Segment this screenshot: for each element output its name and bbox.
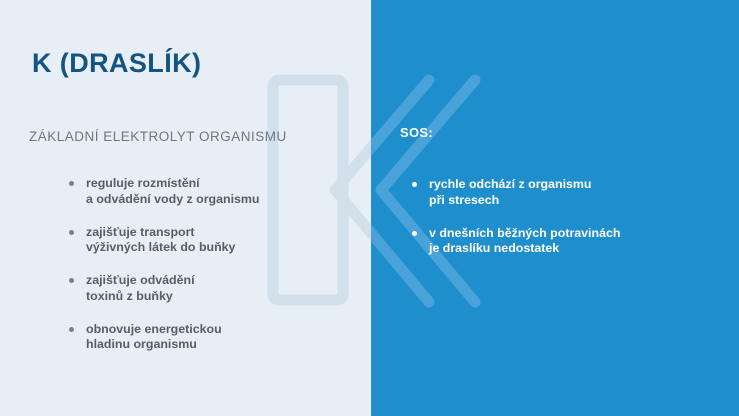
list-item-line-2: hladinu organismu <box>86 337 260 353</box>
list-item-line-1: rychle odchází z organismu <box>429 177 620 193</box>
bullet-dot-icon <box>412 231 417 236</box>
list-item: v dnešních běžných potravinách je draslí… <box>411 226 620 257</box>
list-item: rychle odchází z organismu při stresech <box>411 177 620 208</box>
list-item: zajišťuje transport výživných látek do b… <box>68 225 260 256</box>
list-item-line-2: toxinů z buňky <box>86 289 260 305</box>
page-title: K (DRASLÍK) <box>32 48 201 79</box>
left-bullet-list: reguluje rozmístění a odvádění vody z or… <box>68 176 260 370</box>
list-item-line-1: zajišťuje odvádění <box>86 273 260 289</box>
list-item: zajišťuje odvádění toxinů z buňky <box>68 273 260 304</box>
list-item-line-1: obnovuje energetickou <box>86 322 260 338</box>
list-item-line-1: zajišťuje transport <box>86 225 260 241</box>
bullet-dot-icon <box>412 182 417 187</box>
right-bullet-list: rychle odchází z organismu při stresech … <box>411 177 620 274</box>
list-item-line-2: výživných látek do buňky <box>86 240 260 256</box>
list-item: obnovuje energetickou hladinu organismu <box>68 322 260 353</box>
bullet-dot-icon <box>69 230 74 235</box>
list-item-line-2: při stresech <box>429 193 620 209</box>
list-item-line-1: v dnešních běžných potravinách <box>429 226 620 242</box>
list-item: reguluje rozmístění a odvádění vody z or… <box>68 176 260 207</box>
slide: K (DRASLÍK) ZÁKLADNÍ ELEKTROLYT ORGANISM… <box>0 0 739 416</box>
page-subtitle: ZÁKLADNÍ ELEKTROLYT ORGANISMU <box>29 129 287 144</box>
bullet-dot-icon <box>69 181 74 186</box>
sos-heading: SOS: <box>400 125 433 140</box>
list-item-line-2: je draslíku nedostatek <box>429 241 620 257</box>
list-item-line-1: reguluje rozmístění <box>86 176 260 192</box>
bullet-dot-icon <box>69 278 74 283</box>
bullet-dot-icon <box>69 327 74 332</box>
list-item-line-2: a odvádění vody z organismu <box>86 192 260 208</box>
